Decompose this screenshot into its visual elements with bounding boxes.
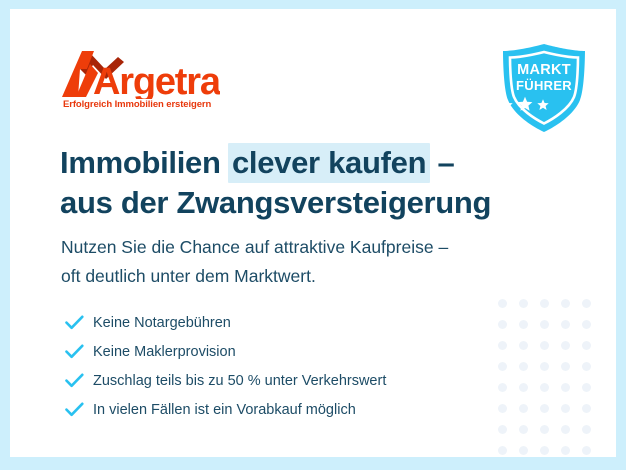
grid-dot — [540, 362, 549, 371]
badge-stars — [497, 96, 591, 114]
list-item: Zuschlag teils bis zu 50 % unter Verkehr… — [65, 366, 515, 395]
headline-line-1: Immobilien clever kaufen – — [60, 143, 491, 183]
grid-dot — [540, 446, 549, 455]
grid-dot — [561, 446, 570, 455]
benefits-list: Keine Notargebühren Keine Maklerprovisio… — [65, 308, 515, 424]
list-item: In vielen Fällen ist ein Vorabkauf mögli… — [65, 395, 515, 424]
list-item-label: Zuschlag teils bis zu 50 % unter Verkehr… — [93, 373, 386, 389]
list-item: Keine Maklerprovision — [65, 337, 515, 366]
headline-highlight: clever kaufen — [228, 143, 430, 183]
list-item-label: Keine Notargebühren — [93, 315, 231, 331]
grid-dot — [498, 446, 507, 455]
grid-dot — [519, 320, 528, 329]
check-icon — [65, 344, 93, 359]
argetra-logo[interactable]: Argetra Erfolgreich Immobilien ersteiger… — [60, 47, 220, 115]
list-item: Keine Notargebühren — [65, 308, 515, 337]
grid-dot — [519, 299, 528, 308]
grid-dot — [582, 425, 591, 434]
grid-dot — [519, 404, 528, 413]
grid-dot — [582, 341, 591, 350]
grid-dot — [561, 320, 570, 329]
grid-dot — [540, 404, 549, 413]
grid-dot — [582, 383, 591, 392]
promo-banner: Argetra Erfolgreich Immobilien ersteiger… — [0, 0, 626, 470]
list-item-label: Keine Maklerprovision — [93, 344, 236, 360]
headline-text-after: – — [429, 145, 454, 180]
grid-dot — [582, 446, 591, 455]
check-icon — [65, 373, 93, 388]
grid-dot — [540, 299, 549, 308]
grid-dot — [561, 341, 570, 350]
grid-dot — [561, 299, 570, 308]
badge-line-1: MARKT — [497, 62, 591, 78]
grid-dot — [519, 446, 528, 455]
grid-dot — [582, 404, 591, 413]
check-icon — [65, 402, 93, 417]
argetra-logo-mark: Argetra — [60, 47, 220, 99]
grid-dot — [561, 383, 570, 392]
subheadline: Nutzen Sie die Chance auf attraktive Kau… — [61, 233, 448, 291]
subheadline-line-1: Nutzen Sie die Chance auf attraktive Kau… — [61, 233, 448, 262]
grid-dot — [540, 425, 549, 434]
headline-line-2: aus der Zwangsversteigerung — [60, 183, 491, 223]
grid-dot — [561, 425, 570, 434]
svg-text:Argetra: Argetra — [93, 61, 220, 99]
grid-dot — [582, 362, 591, 371]
grid-dot — [540, 341, 549, 350]
headline: Immobilien clever kaufen – aus der Zwang… — [60, 143, 491, 223]
grid-dot — [519, 383, 528, 392]
check-icon — [65, 315, 93, 330]
grid-dot — [561, 404, 570, 413]
banner-canvas: Argetra Erfolgreich Immobilien ersteiger… — [10, 9, 616, 457]
logo-tagline: Erfolgreich Immobilien ersteigern — [63, 99, 211, 110]
subheadline-line-2: oft deutlich unter dem Marktwert. — [61, 262, 448, 291]
grid-dot — [540, 383, 549, 392]
grid-dot — [582, 320, 591, 329]
headline-text-before: Immobilien — [60, 145, 229, 180]
grid-dot — [498, 299, 507, 308]
badge-line-2: FÜHRER — [497, 78, 591, 93]
grid-dot — [519, 341, 528, 350]
grid-dot — [540, 320, 549, 329]
marktfuehrer-badge: MARKT FÜHRER — [497, 42, 591, 134]
grid-dot — [498, 425, 507, 434]
grid-dot — [561, 362, 570, 371]
grid-dot — [519, 425, 528, 434]
grid-dot — [582, 299, 591, 308]
grid-dot — [519, 362, 528, 371]
list-item-label: In vielen Fällen ist ein Vorabkauf mögli… — [93, 402, 356, 418]
